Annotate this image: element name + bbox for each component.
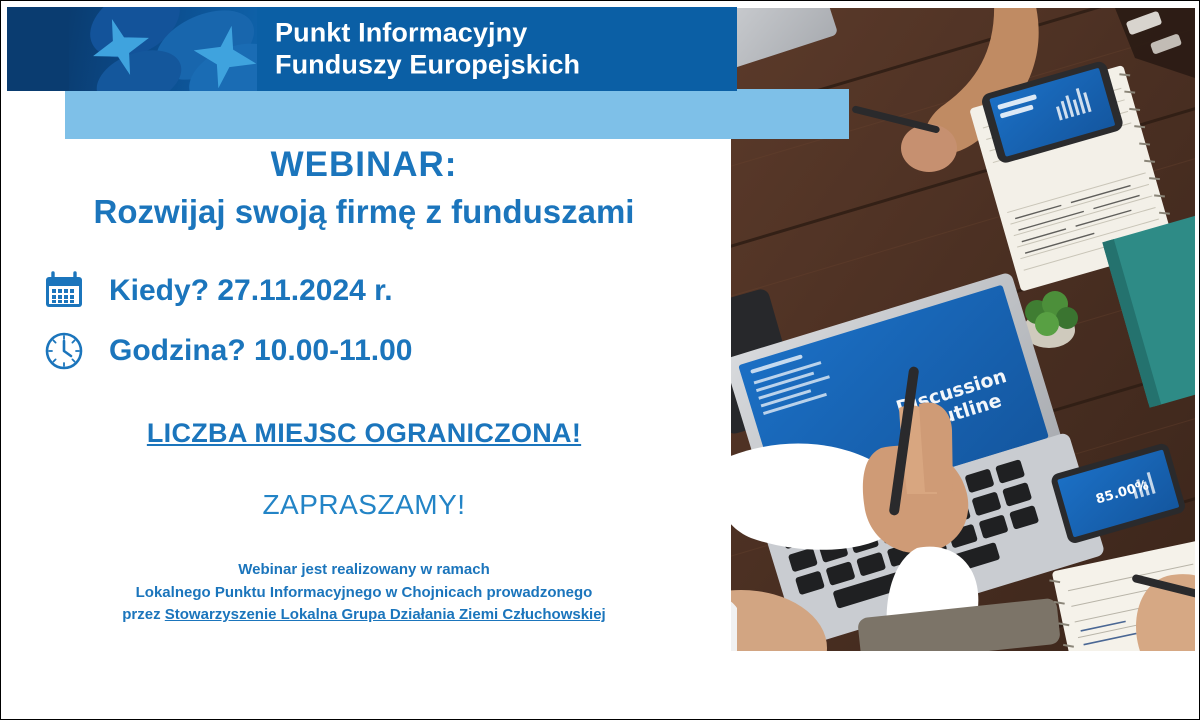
footnote-line-3-prefix: przez	[122, 606, 165, 623]
header-light-band	[65, 89, 849, 139]
content-column: WEBINAR: Rozwijaj swoją firmę z fundusza…	[1, 146, 727, 627]
info-text-time: Godzina? 10.00-11.00	[109, 334, 412, 368]
clock-icon	[41, 328, 87, 374]
star-blob-logo-icon	[69, 7, 257, 91]
info-text-date: Kiedy? 27.11.2024 r.	[109, 274, 393, 308]
invitation-text: ZAPRASZAMY!	[1, 489, 727, 521]
webinar-heading: WEBINAR:	[1, 146, 727, 185]
footnote-line-2: Lokalnego Punktu Informacyjnego w Chojni…	[1, 582, 727, 605]
poster-canvas: Discussion Outline	[0, 0, 1200, 720]
calendar-icon	[41, 268, 87, 314]
header-navy-block	[7, 7, 69, 91]
info-list: Kiedy? 27.11.2024 r.	[1, 268, 727, 374]
footnote-line-1: Webinar jest realizowany w ramach	[1, 559, 727, 582]
header-title: Punkt Informacyjny Funduszy Europejskich	[275, 17, 580, 80]
header-bar: Punkt Informacyjny Funduszy Europejskich	[7, 7, 737, 91]
footnote-organization-link[interactable]: Stowarzyszenie Lokalna Grupa Działania Z…	[165, 606, 606, 623]
footnote: Webinar jest realizowany w ramach Lokaln…	[1, 559, 727, 627]
info-row-time: Godzina? 10.00-11.00	[41, 328, 727, 374]
webinar-subheading: Rozwijaj swoją firmę z funduszami	[1, 193, 727, 231]
limited-seats-notice: LICZBA MIEJSC OGRANICZONA!	[1, 418, 727, 449]
footnote-line-3: przez Stowarzyszenie Lokalna Grupa Dział…	[1, 604, 727, 627]
info-row-date: Kiedy? 27.11.2024 r.	[41, 268, 727, 314]
